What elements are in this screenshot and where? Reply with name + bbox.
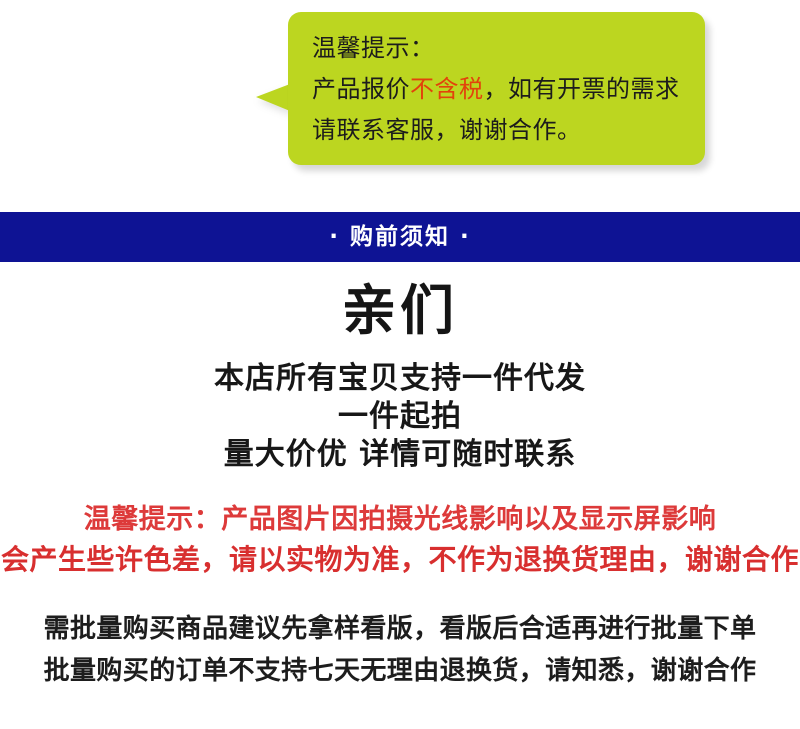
bubble-line-3: 请联系客服，谢谢合作。 xyxy=(312,110,687,151)
main-content: 亲们 本店所有宝贝支持一件代发 一件起拍 量大价优 详情可随时联系 温馨提示：产… xyxy=(0,262,800,692)
tip-speech-bubble: 温馨提示： 产品报价不含税，如有开票的需求 请联系客服，谢谢合作。 xyxy=(288,12,705,165)
speech-bubble-tail-icon xyxy=(256,84,290,111)
bubble-line-2-suffix: ，如有开票的需求 xyxy=(484,75,680,103)
bubble-line-2-prefix: 产品报价 xyxy=(312,75,410,103)
section-banner: · 购前须知 · xyxy=(0,212,800,262)
red-notice-line: 温馨提示：产品图片因拍摄光线影响以及显示屏影响 xyxy=(0,500,800,540)
note-line: 需批量购买商品建议先拿样看版，看版后合适再进行批量下单 xyxy=(0,608,800,650)
bubble-line-1: 温馨提示： xyxy=(312,28,687,69)
page-headline: 亲们 xyxy=(0,284,800,338)
policy-line: 本店所有宝贝支持一件代发 xyxy=(0,360,800,398)
color-difference-notice: 温馨提示：产品图片因拍摄光线影响以及显示屏影响 会产生些许色差，请以实物为准，不… xyxy=(0,500,800,580)
policy-lines: 本店所有宝贝支持一件代发 一件起拍 量大价优 详情可随时联系 xyxy=(0,360,800,474)
banner-title: · 购前须知 · xyxy=(329,226,471,249)
bulk-order-notes: 需批量购买商品建议先拿样看版，看版后合适再进行批量下单 批量购买的订单不支持七天… xyxy=(0,608,800,692)
policy-line: 量大价优 详情可随时联系 xyxy=(0,436,800,474)
tip-bubble-zone: 温馨提示： 产品报价不含税，如有开票的需求 请联系客服，谢谢合作。 xyxy=(0,0,800,200)
promo-page: 温馨提示： 产品报价不含税，如有开票的需求 请联系客服，谢谢合作。 · 购前须知… xyxy=(0,0,800,729)
red-notice-line: 会产生些许色差，请以实物为准，不作为退换货理由，谢谢合作 xyxy=(0,540,800,580)
policy-line: 一件起拍 xyxy=(0,398,800,436)
bubble-line-2: 产品报价不含税，如有开票的需求 xyxy=(312,69,687,110)
note-line: 批量购买的订单不支持七天无理由退换货，请知悉，谢谢合作 xyxy=(0,650,800,692)
bubble-tax-highlight: 不含税 xyxy=(410,75,484,103)
